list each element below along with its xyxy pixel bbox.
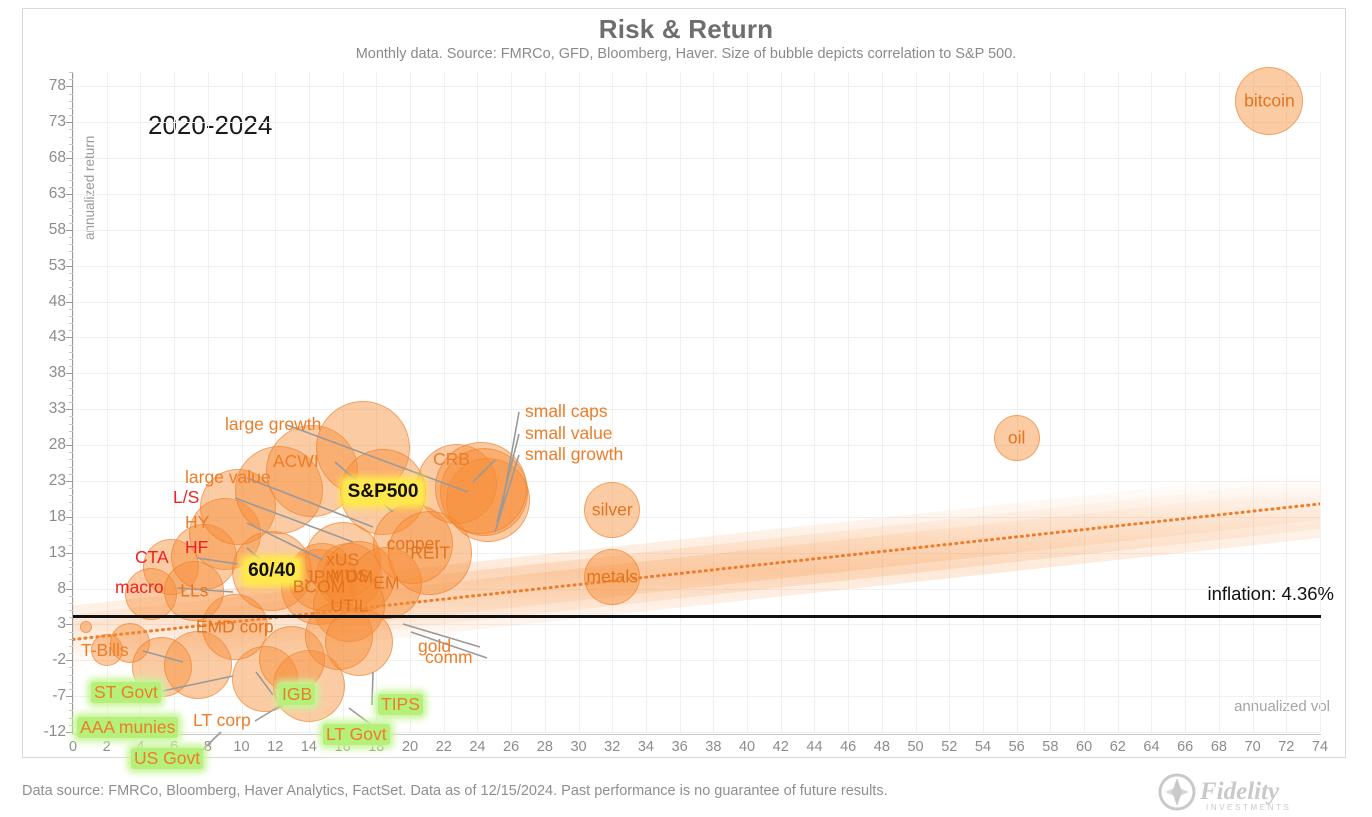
- leader-line: [153, 676, 233, 693]
- bubble-label: HY: [185, 512, 209, 533]
- x-tick-label: 10: [233, 739, 249, 755]
- y-tick-label: 13: [22, 544, 66, 562]
- y-tick-mark: [66, 481, 73, 482]
- y-tick-mark: [66, 302, 73, 303]
- bubble-label: ACWI: [273, 451, 319, 472]
- y-tick-mark: [66, 86, 73, 87]
- x-axis-line: [73, 734, 1321, 735]
- bubble-label: large value: [185, 467, 271, 488]
- y-tick-label: 53: [22, 257, 66, 275]
- bubble-label: small caps: [525, 401, 608, 422]
- x-tick-label: 68: [1211, 739, 1227, 755]
- leader-line: [143, 651, 183, 662]
- bubble-label: REIT: [410, 542, 450, 563]
- y-tick-mark: [66, 266, 73, 267]
- y-tick-mark: [66, 553, 73, 554]
- x-tick-label: 56: [1009, 739, 1025, 755]
- x-tick-label: 58: [1042, 739, 1058, 755]
- bubble-label: CRB: [433, 449, 470, 470]
- x-tick-label: 46: [840, 739, 856, 755]
- y-tick-mark: [66, 158, 73, 159]
- bubble-label: HF: [185, 537, 208, 558]
- y-tick-label: 73: [22, 113, 66, 131]
- bubble-label: T-Bills: [81, 640, 129, 661]
- x-tick-label: 70: [1245, 739, 1261, 755]
- bubble-label: CTA: [135, 547, 169, 568]
- y-tick-label: 33: [22, 400, 66, 418]
- y-tick-mark: [66, 660, 73, 661]
- x-tick-label: 22: [436, 739, 452, 755]
- chart-title: Risk & Return: [0, 14, 1372, 45]
- x-tick-label: 72: [1278, 739, 1294, 755]
- y-tick-label: 23: [22, 472, 66, 490]
- leader-line: [372, 672, 373, 705]
- x-tick-label: 30: [570, 739, 586, 755]
- y-tick-mark: [66, 373, 73, 374]
- x-tick-label: 40: [739, 739, 755, 755]
- y-tick-mark: [66, 696, 73, 697]
- bubble-label: LT corp: [193, 710, 251, 731]
- x-tick-label: 34: [638, 739, 654, 755]
- bubble-label: DM: [346, 567, 373, 588]
- plot-area: T-BillsST GovtAAA muniesUS GovtIGBLT cor…: [73, 72, 1320, 732]
- x-tick-label: 12: [267, 739, 283, 755]
- x-tick-label: 64: [1143, 739, 1159, 755]
- x-tick-label: 54: [975, 739, 991, 755]
- bubble-label: LLs: [180, 581, 208, 602]
- y-tick-mark: [66, 517, 73, 518]
- svg-text:Fidelity: Fidelity: [1199, 778, 1280, 805]
- bubble-label: macro: [115, 577, 164, 598]
- x-tick-label: 60: [1076, 739, 1092, 755]
- x-tick-label: 44: [806, 739, 822, 755]
- leader-line: [235, 498, 353, 542]
- y-tick-label: -7: [22, 687, 66, 705]
- y-axis-labels: -12-7-2381318232833384348535863687378: [16, 72, 66, 734]
- inflation-line: [73, 615, 1321, 618]
- x-tick-label: 38: [705, 739, 721, 755]
- y-tick-mark: [66, 624, 73, 625]
- bubble-label: UTIL: [330, 595, 368, 616]
- y-tick-label: 38: [22, 364, 66, 382]
- leader-line: [497, 434, 519, 522]
- bubble-label: small value: [525, 423, 613, 444]
- y-tick-mark: [66, 194, 73, 195]
- x-tick-label: 62: [1110, 739, 1126, 755]
- x-tick-label: 42: [773, 739, 789, 755]
- x-tick-label: 52: [941, 739, 957, 755]
- bubble-label: metals: [586, 567, 638, 588]
- x-tick-label: 14: [301, 739, 317, 755]
- y-tick-label: 63: [22, 185, 66, 203]
- y-tick-mark: [66, 409, 73, 410]
- x-tick-label: 48: [874, 739, 890, 755]
- bubble-label: TIPS: [378, 694, 423, 715]
- bubble-label: bitcoin: [1244, 90, 1295, 111]
- leader-line: [247, 523, 323, 560]
- fidelity-logo: Fidelity INVESTMENTS: [1158, 773, 1348, 813]
- bubble-label: IGB: [279, 684, 315, 705]
- leader-line: [256, 672, 273, 695]
- leader-line: [473, 460, 495, 482]
- footer-source: Data source: FMRCo, Bloomberg, Haver Ana…: [22, 783, 888, 799]
- bubble-label: ST Govt: [91, 682, 161, 703]
- x-tick-label: 26: [503, 739, 519, 755]
- x-tick-label: 0: [69, 739, 77, 755]
- y-tick-label: -12: [22, 723, 66, 741]
- x-tick-label: 50: [907, 739, 923, 755]
- bubble-label: comm: [425, 647, 473, 668]
- grid-line-h: [73, 732, 1320, 733]
- grid-line-v: [1320, 72, 1321, 732]
- bubble-label: L/S: [173, 487, 199, 508]
- bubble-label: LT Govt: [323, 724, 390, 745]
- y-tick-label: -2: [22, 651, 66, 669]
- x-tick-label: 24: [469, 739, 485, 755]
- bubble-label: silver: [592, 499, 633, 520]
- bubble-label: US Govt: [131, 748, 203, 769]
- bubble-label: EM: [373, 572, 399, 593]
- bubble-label: large growth: [225, 414, 321, 435]
- y-tick-label: 8: [22, 580, 66, 598]
- chart-page: Risk & Return Monthly data. Source: FMRC…: [0, 0, 1372, 817]
- bubble-label: oil: [1008, 427, 1026, 448]
- y-tick-label: 58: [22, 221, 66, 239]
- x-tick-label: 66: [1177, 739, 1193, 755]
- x-tick-label: 28: [537, 739, 553, 755]
- y-tick-mark: [66, 122, 73, 123]
- x-tick-label: 2: [103, 739, 111, 755]
- y-tick-mark: [66, 230, 73, 231]
- y-tick-mark: [66, 732, 73, 733]
- x-tick-label: 36: [672, 739, 688, 755]
- bubble-label: EMD corp: [196, 617, 274, 638]
- chart-subtitle: Monthly data. Source: FMRCo, GFD, Bloomb…: [0, 46, 1372, 62]
- inflation-label: inflation: 4.36%: [1207, 583, 1334, 605]
- leader-line: [197, 558, 238, 564]
- y-tick-mark: [66, 337, 73, 338]
- bubble-label: AAA munies: [77, 717, 178, 738]
- bubble-label: 60/40: [244, 559, 300, 583]
- bubble-label: small growth: [525, 444, 623, 465]
- x-tick-label: 74: [1312, 739, 1328, 755]
- x-tick-label: 20: [402, 739, 418, 755]
- svg-text:INVESTMENTS: INVESTMENTS: [1206, 803, 1292, 812]
- y-tick-label: 48: [22, 293, 66, 311]
- x-tick-label: 32: [604, 739, 620, 755]
- y-tick-label: 18: [22, 508, 66, 526]
- y-tick-label: 68: [22, 149, 66, 167]
- leader-line: [495, 455, 519, 532]
- y-tick-label: 3: [22, 615, 66, 633]
- y-tick-label: 43: [22, 328, 66, 346]
- bubble-label: S&P500: [344, 480, 423, 504]
- y-tick-mark: [66, 589, 73, 590]
- y-tick-mark: [66, 445, 73, 446]
- y-tick-label: 78: [22, 77, 66, 95]
- y-tick-label: 28: [22, 436, 66, 454]
